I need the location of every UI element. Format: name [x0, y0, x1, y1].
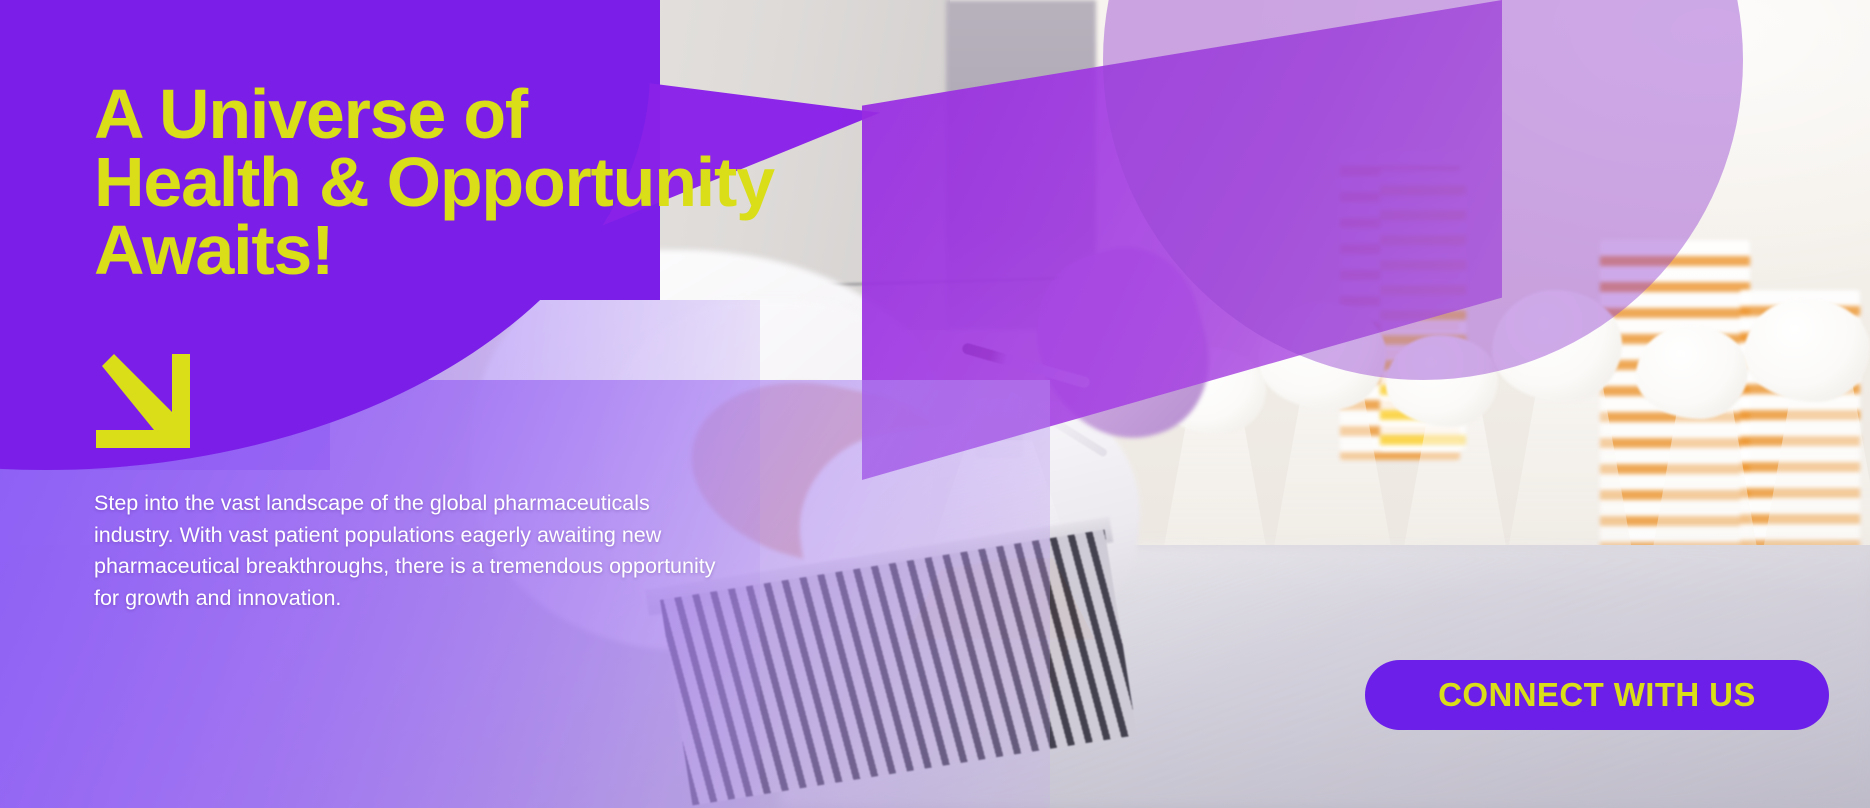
page-title: A Universe of Health & Opportunity Await…	[94, 80, 994, 284]
hero-banner: A Universe of Health & Opportunity Await…	[0, 0, 1870, 808]
arrow-down-right-icon	[94, 352, 190, 450]
hero-content: A Universe of Health & Opportunity Await…	[0, 0, 1870, 808]
hero-description: Step into the vast landscape of the glob…	[94, 488, 734, 614]
connect-with-us-button[interactable]: CONNECT WITH US	[1365, 660, 1829, 730]
